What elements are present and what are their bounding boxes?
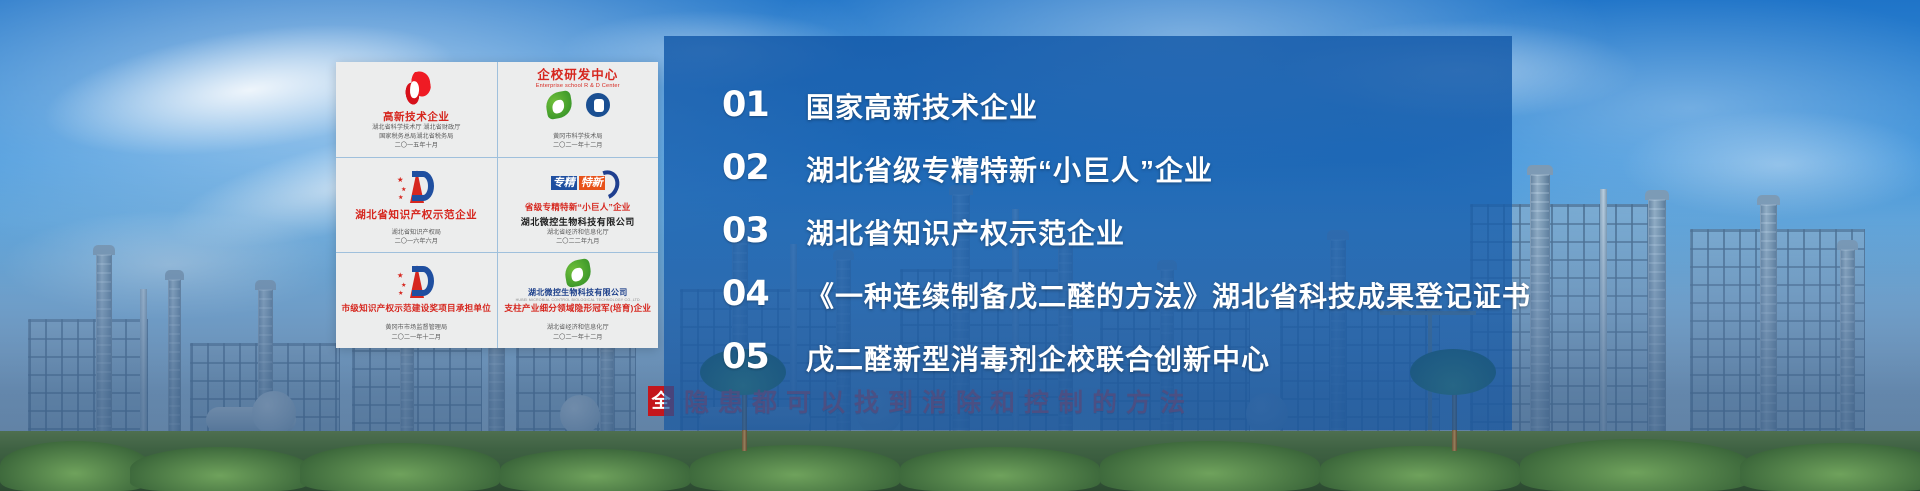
rdc-english-text: Enterprise school R & D Center: [536, 83, 620, 89]
bush: [1740, 443, 1920, 491]
certificate-title: 支柱产业细分领域隐形冠军(培育)企业: [504, 304, 651, 314]
certificate-title: 高新技术企业: [383, 111, 450, 123]
certificate-issuer: 湖北省科学技术厅 湖北省财政厅 国家税务总局湖北省税务局 二〇一五年十月: [372, 123, 460, 153]
certificate-card-rd-center[interactable]: 企校研发中心 Enterprise school R & D Center 黄冈…: [498, 62, 659, 157]
honor-label: 湖北省级专精特新“小巨人”企业: [806, 149, 1213, 189]
certificate-issuer: 黄冈市科学技术局 二〇二一年十二月: [553, 132, 603, 153]
company-name-english: HUBEI MICROBIAL CONTROL BIOLOGICAL TECHN…: [516, 298, 640, 302]
certificate-card-high-tech[interactable]: 高新技术企业 湖北省科学技术厅 湖北省财政厅 国家税务总局湖北省税务局 二〇一五…: [336, 62, 497, 157]
bush: [0, 441, 150, 491]
certificate-card-little-giant[interactable]: 专精特新 省级专精特新“小巨人”企业 湖北微控生物科技有限公司 湖北省经济和信息…: [498, 158, 659, 253]
honor-number: 04: [722, 277, 776, 312]
bush: [1320, 446, 1520, 491]
honors-list-panel: 01 国家高新技术企业 02 湖北省级专精特新“小巨人”企业 03 湖北省知识产…: [664, 36, 1512, 430]
honor-item-05[interactable]: 05 戊二醛新型消毒剂企校联合创新中心: [722, 326, 1512, 389]
certificate-title: 市级知识产权示范建设奖项目承担单位: [342, 304, 492, 314]
certificate-grid: 高新技术企业 湖北省科学技术厅 湖北省财政厅 国家税务总局湖北省税务局 二〇一五…: [336, 62, 658, 348]
certificate-issuer: 黄冈市市场监督管理局 二〇二一年十二月: [385, 323, 447, 344]
weikong-corp-icon: 湖北微控生物科技有限公司 HUBEI MICROBIAL CONTROL BIO…: [516, 260, 640, 302]
certificate-subtitle: 湖北微控生物科技有限公司: [521, 215, 635, 228]
honor-item-02[interactable]: 02 湖北省级专精特新“小巨人”企业: [722, 137, 1512, 200]
honor-label: 国家高新技术企业: [806, 86, 1038, 126]
bush: [500, 449, 690, 491]
university-seal-icon: [586, 93, 610, 117]
honor-number: 02: [722, 151, 776, 186]
certificate-card-city-ip[interactable]: 市级知识产权示范建设奖项目承担单位 黄冈市市场监督管理局 二〇二一年十二月: [336, 253, 497, 348]
honor-item-01[interactable]: 01 国家高新技术企业: [722, 74, 1512, 137]
flame-icon: [401, 69, 431, 109]
banner-stage: 全 隐患都可以找到消除和控制的方法 高新技术企业 湖北省科学技术厅 湖北省财政厅…: [0, 0, 1920, 491]
honor-item-03[interactable]: 03 湖北省知识产权示范企业: [722, 200, 1512, 263]
ip-sail-icon: [397, 165, 435, 207]
certificate-issuer: 湖北省知识产权局 二〇一六年六月: [392, 228, 442, 249]
honor-label: 湖北省知识产权示范企业: [806, 212, 1125, 252]
honor-label: 《一种连续制备戊二醛的方法》湖北省科技成果登记证书: [806, 275, 1531, 315]
certificate-issuer: 湖北省经济和信息化厅 二〇二二年九月: [547, 228, 609, 249]
enterprise-school-rd-center-icon: 企校研发中心 Enterprise school R & D Center: [536, 69, 620, 118]
leaf-logo-icon: [563, 258, 593, 288]
honor-number: 03: [722, 214, 776, 249]
leaf-logo-icon: [544, 89, 574, 119]
certificate-title: 湖北省知识产权示范企业: [355, 209, 477, 221]
honor-number: 05: [722, 340, 776, 375]
honor-label: 戊二醛新型消毒剂企校联合创新中心: [806, 338, 1270, 378]
certificate-card-hidden-champion[interactable]: 湖北微控生物科技有限公司 HUBEI MICROBIAL CONTROL BIO…: [498, 253, 659, 348]
company-name-text: 湖北微控生物科技有限公司: [528, 287, 628, 298]
ip-sail-icon: [397, 260, 435, 302]
bush: [300, 443, 500, 491]
rdc-title-text: 企校研发中心: [537, 69, 618, 82]
bush: [690, 445, 900, 491]
honor-item-04[interactable]: 04 《一种连续制备戊二醛的方法》湖北省科技成果登记证书: [722, 263, 1512, 326]
bush: [1100, 441, 1320, 491]
zhuanjingtexin-icon: 专精特新: [551, 165, 605, 201]
certificate-title: 省级专精特新“小巨人”企业: [525, 203, 631, 213]
bush: [130, 447, 310, 491]
bush: [1520, 439, 1750, 491]
certificate-issuer: 湖北省经济和信息化厅 二〇二一年十二月: [547, 323, 609, 344]
bush: [900, 447, 1100, 491]
honor-number: 01: [722, 88, 776, 123]
certificate-card-ip-demo[interactable]: 湖北省知识产权示范企业 湖北省知识产权局 二〇一六年六月: [336, 158, 497, 253]
